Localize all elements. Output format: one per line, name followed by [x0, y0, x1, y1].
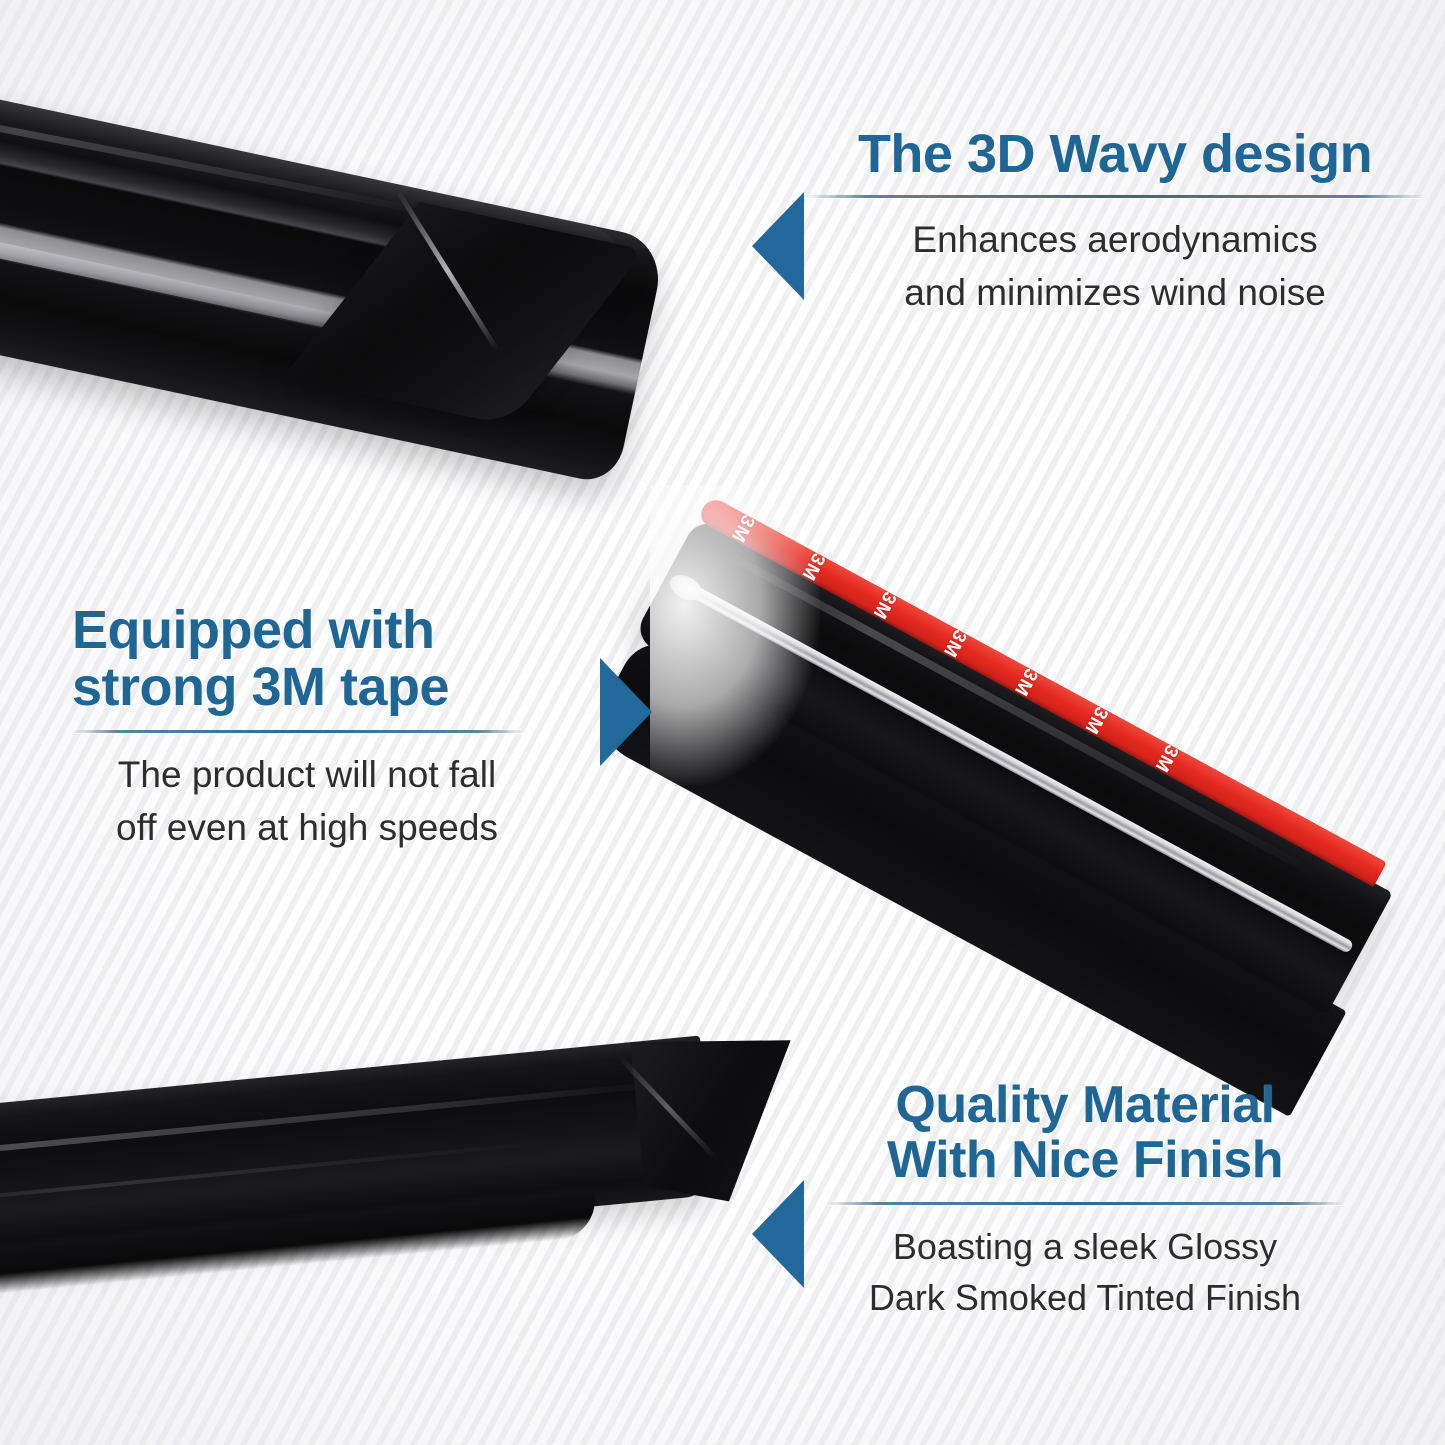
infographic-canvas: 3M 3M 3M 3M 3M 3M 3M The [0, 0, 1445, 1445]
feature-subtext-line-2: off even at high speeds [72, 802, 542, 855]
feature-headline-line-2: strong 3M tape [72, 659, 542, 716]
feature-headline-line-2: With Nice Finish [820, 1133, 1350, 1188]
feature-divider [72, 730, 524, 733]
product-image-visor-with-3m-tape: 3M 3M 3M 3M 3M 3M 3M [690, 455, 1445, 915]
feature-divider [826, 1202, 1344, 1205]
feature-block-3m-tape: Equipped with strong 3M tape The product… [72, 602, 542, 855]
feature-subtext-line-2: Dark Smoked Tinted Finish [820, 1272, 1350, 1323]
arrow-right-icon-3m-tape [600, 658, 652, 766]
feature-subtext-line-1: Enhances aerodynamics [795, 214, 1435, 267]
feature-headline: The 3D Wavy design [795, 126, 1435, 183]
feature-block-wavy-design: The 3D Wavy design Enhances aerodynamics… [795, 126, 1435, 319]
visor-tape-nose-fade [650, 485, 820, 785]
arrow-left-icon-wavy-design [752, 192, 804, 300]
product-image-visor-bottom-left [0, 1080, 780, 1445]
feature-subtext-line-1: Boasting a sleek Glossy [820, 1221, 1350, 1272]
feature-headline-line-1: Quality Material [820, 1078, 1350, 1133]
arrow-left-icon-quality-material [752, 1180, 804, 1288]
feature-divider [805, 195, 1425, 198]
feature-headline-line-1: Equipped with [72, 602, 542, 659]
product-image-visor-top-left [0, 0, 800, 500]
feature-block-quality-material: Quality Material With Nice Finish Boasti… [820, 1078, 1350, 1323]
feature-subtext-line-1: The product will not fall [72, 749, 542, 802]
feature-subtext-line-2: and minimizes wind noise [795, 267, 1435, 320]
